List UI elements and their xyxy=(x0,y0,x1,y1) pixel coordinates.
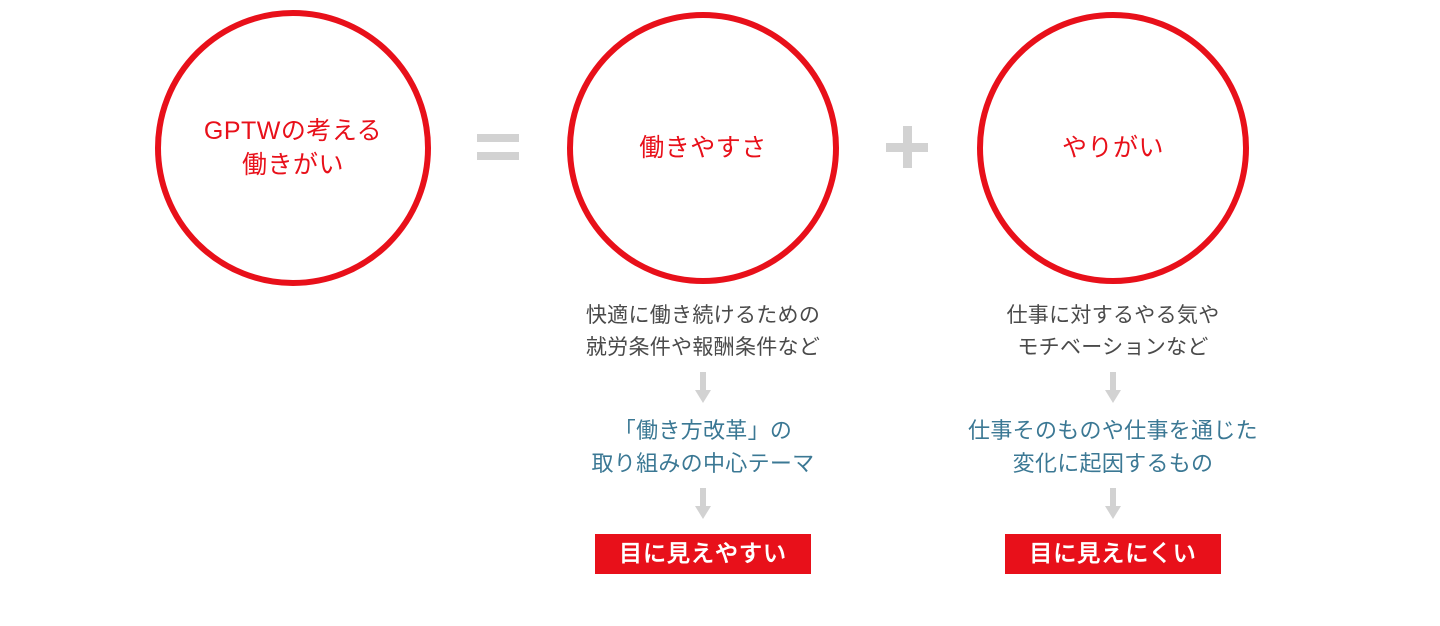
circle-worthwhileness: やりがい xyxy=(977,12,1249,284)
equals-bar-bottom xyxy=(477,152,519,160)
equals-icon xyxy=(477,134,519,160)
workability-visibility-badge: 目に見えやすい xyxy=(595,534,811,575)
down-arrow-icon xyxy=(692,488,714,522)
plus-icon xyxy=(886,126,928,168)
equals-bar-top xyxy=(477,134,519,142)
down-arrow-icon xyxy=(1102,372,1124,406)
circle-workability-label: 働きやすさ xyxy=(639,131,767,166)
down-arrow-icon xyxy=(692,372,714,406)
plus-bar-vertical xyxy=(903,126,912,168)
worthwhileness-visibility-badge: 目に見えにくい xyxy=(1005,534,1221,575)
diagram-canvas: GPTWの考える 働きがい 働きやすさ やりがい 快適に働き続けるための 就労条… xyxy=(0,0,1440,626)
circle-workability: 働きやすさ xyxy=(567,12,839,284)
circle-gptw-engagement-label: GPTWの考える 働きがい xyxy=(204,114,382,183)
worthwhileness-column: 仕事に対するやる気や モチベーションなど 仕事そのものや仕事を通じた 変化に起因… xyxy=(903,300,1323,574)
workability-theme: 「働き方改革」の 取り組みの中心テーマ xyxy=(591,414,814,480)
circle-gptw-engagement: GPTWの考える 働きがい xyxy=(155,10,431,286)
workability-column: 快適に働き続けるための 就労条件や報酬条件など 「働き方改革」の 取り組みの中心… xyxy=(493,300,913,574)
worthwhileness-description: 仕事に対するやる気や モチベーションなど xyxy=(1007,300,1220,364)
down-arrow-icon xyxy=(1102,488,1124,522)
workability-description: 快適に働き続けるための 就労条件や報酬条件など xyxy=(586,300,820,364)
worthwhileness-theme: 仕事そのものや仕事を通じた 変化に起因するもの xyxy=(968,414,1258,480)
circle-worthwhileness-label: やりがい xyxy=(1062,131,1164,166)
